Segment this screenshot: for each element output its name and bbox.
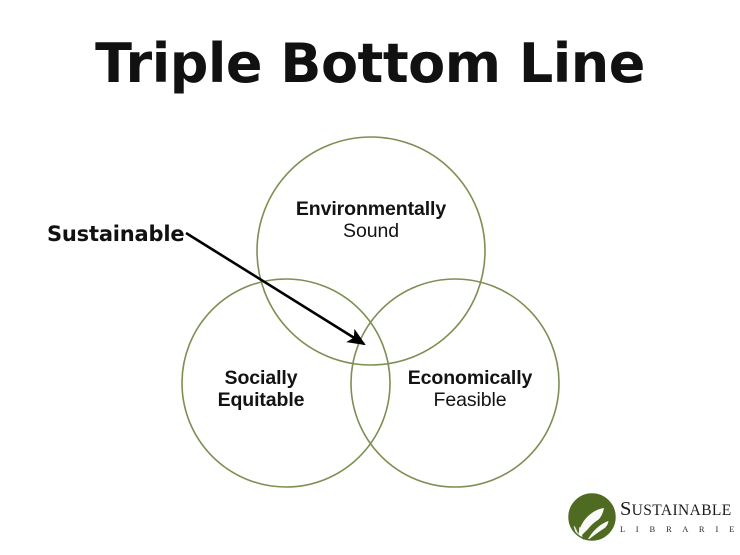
logo-subtitle: L I B R A R I E S: [620, 524, 734, 534]
logo-name-initial: S: [620, 498, 632, 520]
logo-wordmark: SUSTAINABLE L I B R A R I E S: [620, 499, 734, 534]
logo: SUSTAINABLE L I B R A R I E S: [568, 490, 734, 546]
logo-name-rest: USTAINABLE: [632, 502, 732, 519]
callout-arrow-icon: [0, 0, 740, 555]
logo-name: SUSTAINABLE: [620, 499, 734, 520]
slide-canvas: Triple Bottom Line Environmentally Sound…: [0, 0, 740, 555]
leaf-circle-icon: [568, 493, 616, 541]
